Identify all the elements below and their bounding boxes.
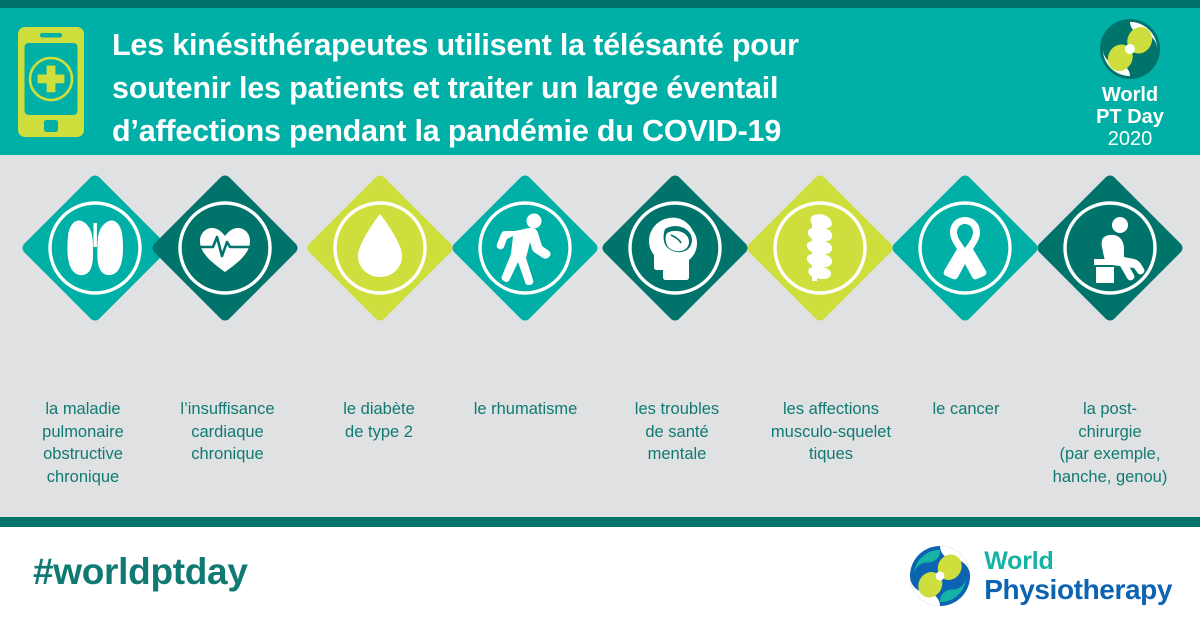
condition-diamond-diabetes[interactable] (300, 155, 460, 370)
condition-diamond-heart-failure[interactable] (145, 155, 305, 370)
world-pt-day-year: 2020 (1076, 128, 1184, 151)
infographic-page: Les kinésithérapeutes utilisent la télés… (0, 0, 1200, 628)
mobile-phone-medical-cross-icon (18, 27, 84, 137)
footer-divider (0, 517, 1200, 527)
diamond-row (0, 155, 1200, 370)
world-pt-day-line-2: PT Day (1076, 106, 1184, 128)
headline-line-3: d’affections pendant la pandémie du COVI… (112, 110, 1062, 153)
caption-diabetes: le diabète de type 2 (305, 398, 453, 443)
caption-copd: la maladie pulmonaire obstructive chroni… (8, 398, 158, 488)
caption-cancer: le cancer (905, 398, 1027, 421)
caption-post-surgery: la post- chirurgie (par exemple, hanche,… (1026, 398, 1194, 488)
caption-heart-failure: l’insuffisance cardiaque chronique (155, 398, 300, 466)
condition-diamond-mental-health[interactable] (595, 155, 755, 370)
footer: #worldptday World Physiotherapy (0, 527, 1200, 628)
wordmark-physiotherapy: Physiotherapy (984, 576, 1172, 604)
condition-diamond-cancer[interactable] (885, 155, 1045, 370)
condition-diamond-musculoskeletal[interactable] (740, 155, 900, 370)
headline: Les kinésithérapeutes utilisent la télés… (112, 24, 1062, 153)
caption-rheumatism: le rhumatisme (448, 398, 603, 421)
caption-mental-health: les troubles de santé mentale (602, 398, 752, 466)
header-banner: Les kinésithérapeutes utilisent la télés… (0, 0, 1200, 155)
condition-diamond-post-surgery[interactable] (1030, 155, 1190, 370)
hashtag-worldptday[interactable]: #worldptday (33, 551, 248, 593)
world-pt-day-logo: World PT Day 2020 (1076, 16, 1184, 156)
world-pt-day-line-1: World (1076, 84, 1184, 106)
world-physiotherapy-logo[interactable]: World Physiotherapy (909, 545, 1172, 607)
caption-row: la maladie pulmonaire obstructive chroni… (0, 398, 1200, 513)
wordmark-world: World (984, 549, 1172, 574)
conditions-band: la maladie pulmonaire obstructive chroni… (0, 155, 1200, 517)
headline-line-1: Les kinésithérapeutes utilisent la télés… (112, 24, 1062, 67)
condition-diamond-rheumatism[interactable] (445, 155, 605, 370)
world-pt-day-circle-mark (1099, 18, 1161, 80)
world-physiotherapy-circle-mark (909, 545, 971, 607)
caption-musculoskeletal: les affections musculo-squelet tiques (752, 398, 910, 466)
headline-line-2: soutenir les patients et traiter un larg… (112, 67, 1062, 110)
world-physiotherapy-wordmark: World Physiotherapy (984, 549, 1172, 604)
